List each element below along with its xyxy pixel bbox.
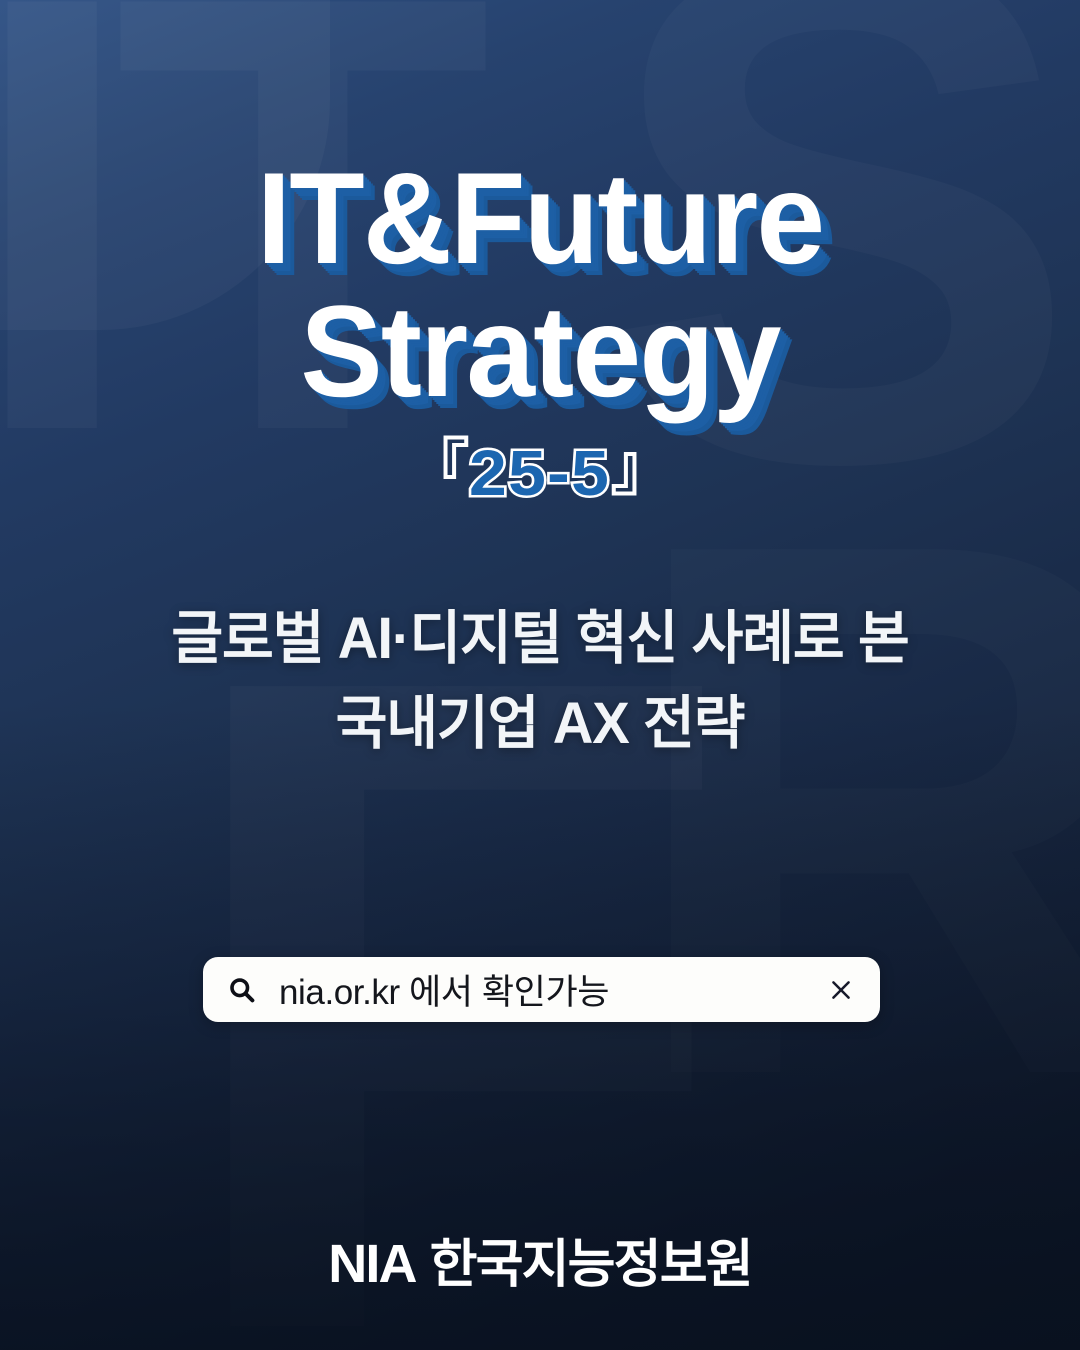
poster-content: IT&Future Strategy 『 25-5 』 글로벌 AI·디지털 혁… <box>0 0 1080 1350</box>
search-bar[interactable]: nia.or.kr 에서 확인가능 <box>203 957 880 1022</box>
subtitle-line-2: 국내기업 AX 전략 <box>171 682 908 767</box>
bracket-close: 』 <box>611 438 673 500</box>
bracket-open: 『 <box>407 438 469 500</box>
page-title: IT&Future Strategy <box>0 152 1080 417</box>
subtitle: 글로벌 AI·디지털 혁신 사례로 본 국내기업 AX 전략 <box>171 597 908 766</box>
title-line-1: IT&Future <box>27 152 1053 285</box>
search-input[interactable]: nia.or.kr 에서 확인가능 <box>279 964 828 1015</box>
poster-canvas: IT S F R IT&Future Strategy 『 25-5 』 글로벌… <box>0 0 1080 1350</box>
footer-brand: NIA 한국지능정보원 <box>0 1222 1080 1297</box>
issue-number: 25-5 <box>469 441 610 505</box>
nia-logo: NIA <box>328 1233 415 1295</box>
subtitle-line-1: 글로벌 AI·디지털 혁신 사례로 본 <box>171 597 908 682</box>
search-icon[interactable] <box>227 975 257 1005</box>
issue-badge: 『 25-5 』 <box>407 441 672 505</box>
close-icon[interactable] <box>828 977 854 1003</box>
title-line-2: Strategy <box>27 285 1053 418</box>
organization-name: 한국지능정보원 <box>430 1222 752 1297</box>
